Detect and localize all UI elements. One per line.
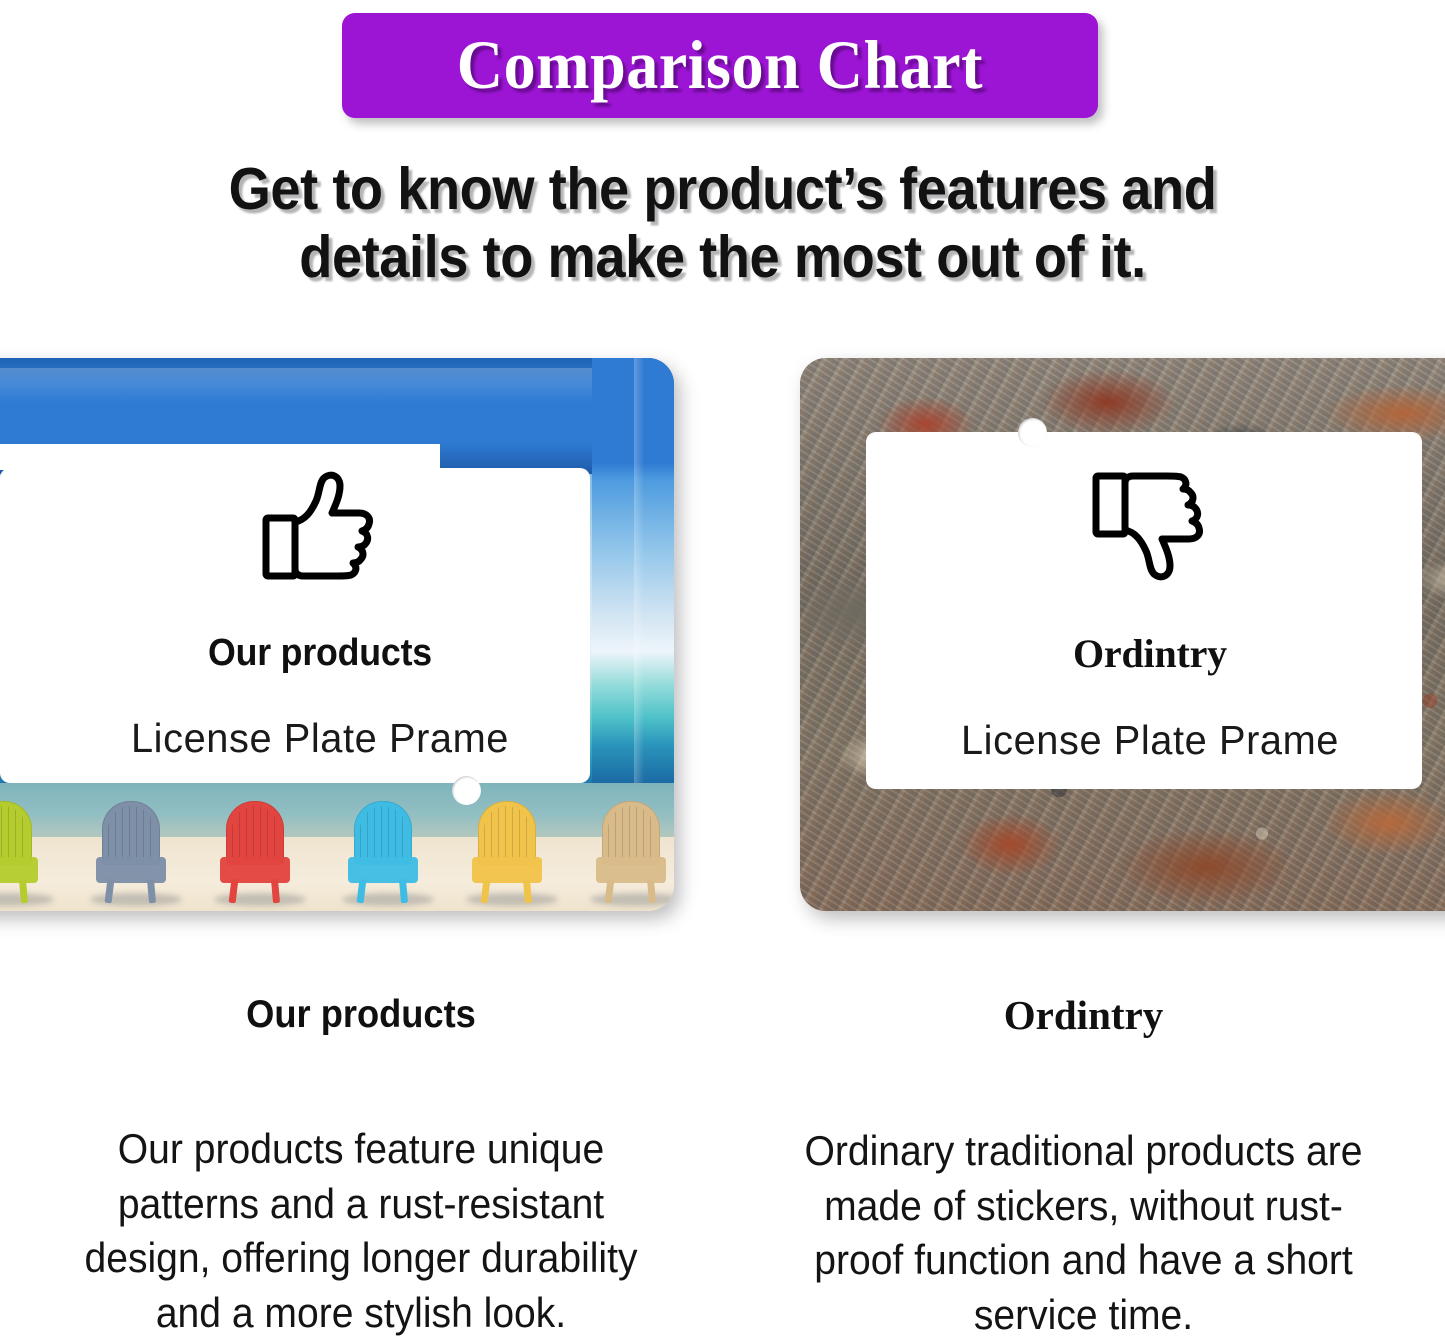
chair-back	[226, 801, 284, 865]
comparison-chart-banner: Comparison Chart	[342, 13, 1098, 118]
beach-chair	[218, 801, 292, 905]
card-title-ordintry: Ordintry	[860, 634, 1440, 674]
description-body-ordintry: Ordinary traditional products are made o…	[747, 1124, 1419, 1342]
chair-shadow	[590, 893, 674, 906]
beach-chairs-strip	[0, 783, 674, 911]
description-title-ordintry: Ordintry	[722, 995, 1445, 1036]
thumbs-up-icon	[261, 470, 379, 582]
beach-chair	[470, 801, 544, 905]
chair-shadow	[466, 893, 558, 906]
card-subtitle-our-products: License Plate Prame	[48, 718, 591, 759]
card-title-our-products: Our products	[57, 634, 583, 672]
chair-back	[354, 801, 412, 865]
frame-step	[0, 444, 440, 470]
mounting-hole	[452, 776, 481, 805]
chair-back	[478, 801, 536, 865]
chair-shadow	[90, 893, 182, 906]
thumbs-down-icon	[1091, 470, 1209, 582]
subtitle-line-1: Get to know the product’s features and	[58, 155, 1387, 223]
chair-shadow	[342, 893, 434, 906]
chair-back	[0, 801, 32, 865]
chair-back	[102, 801, 160, 865]
ordinary-product-description-block: Ordintry Ordinary traditional products a…	[722, 995, 1445, 1342]
page-title: Comparison Chart	[457, 31, 983, 100]
card-subtitle-ordintry: License Plate Prame	[869, 720, 1432, 761]
page-subtitle: Get to know the product’s features and d…	[58, 155, 1387, 292]
mounting-hole	[1018, 418, 1047, 447]
beach-chair	[346, 801, 420, 905]
beach-chair	[94, 801, 168, 905]
our-product-description-block: Our products Our products feature unique…	[0, 995, 722, 1340]
beach-chair	[0, 801, 40, 905]
description-body-our-products: Our products feature unique patterns and…	[25, 1122, 696, 1340]
chair-shadow	[214, 893, 306, 906]
description-title-our-products: Our products	[25, 995, 696, 1034]
ordinary-product-card-content: Ordintry License Plate Prame	[860, 470, 1440, 761]
chair-back	[602, 801, 660, 865]
subtitle-line-2: details to make the most out of it.	[58, 223, 1387, 291]
beach-chair	[594, 801, 668, 905]
our-product-card-content: Our products License Plate Prame	[40, 470, 600, 759]
bar-highlight	[0, 368, 674, 402]
